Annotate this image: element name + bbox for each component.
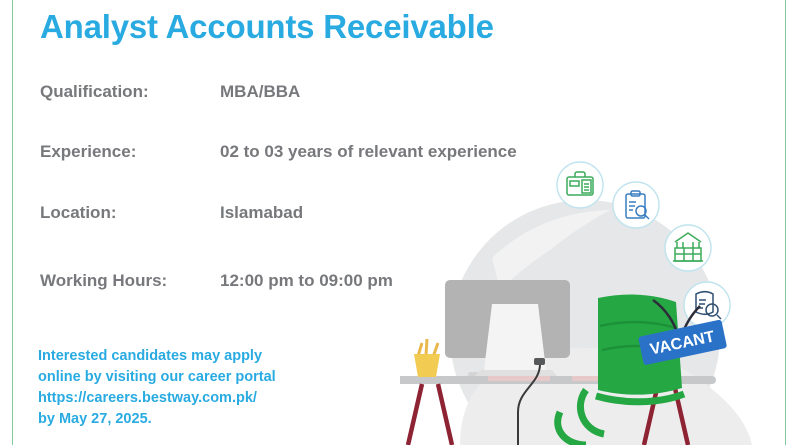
apply-instructions: Interested candidates may apply online b… <box>38 346 276 430</box>
detail-row-location: Location:Islamabad <box>40 203 303 223</box>
icon-badge-briefcase-calculator <box>557 162 603 208</box>
icon-badge-clipboard-search <box>613 182 659 228</box>
icon-badge-bank-building <box>665 225 711 271</box>
icon-badge-document-search <box>684 282 730 328</box>
career-portal-url[interactable]: https://careers.bestway.com.pk/ <box>38 388 276 409</box>
left-border-rule <box>12 0 13 445</box>
detail-label: Working Hours: <box>40 271 220 291</box>
detail-row-qualification: Qualification:MBA/BBA <box>40 82 300 102</box>
detail-value: 02 to 03 years of relevant experience <box>220 142 517 161</box>
detail-label: Location: <box>40 203 220 223</box>
page-title: Analyst Accounts Receivable <box>40 8 494 46</box>
apply-line-2: online by visiting our career portal <box>38 367 276 388</box>
detail-row-working-hours: Working Hours:12:00 pm to 09:00 pm <box>40 271 393 291</box>
apply-deadline: by May 27, 2025. <box>38 409 276 430</box>
apply-line-1: Interested candidates may apply <box>38 346 276 367</box>
cable-plug <box>534 358 545 365</box>
office-illustration: VACANT <box>400 150 800 445</box>
detail-label: Qualification: <box>40 82 220 102</box>
detail-row-experience: Experience:02 to 03 years of relevant ex… <box>40 142 517 162</box>
detail-value: Islamabad <box>220 203 303 222</box>
detail-value: 12:00 pm to 09:00 pm <box>220 271 393 290</box>
job-posting-poster: VACANT Analyst Accounts Receivable Quali… <box>0 0 800 445</box>
detail-label: Experience: <box>40 142 220 162</box>
pencil-cup <box>414 339 440 377</box>
detail-value: MBA/BBA <box>220 82 300 101</box>
